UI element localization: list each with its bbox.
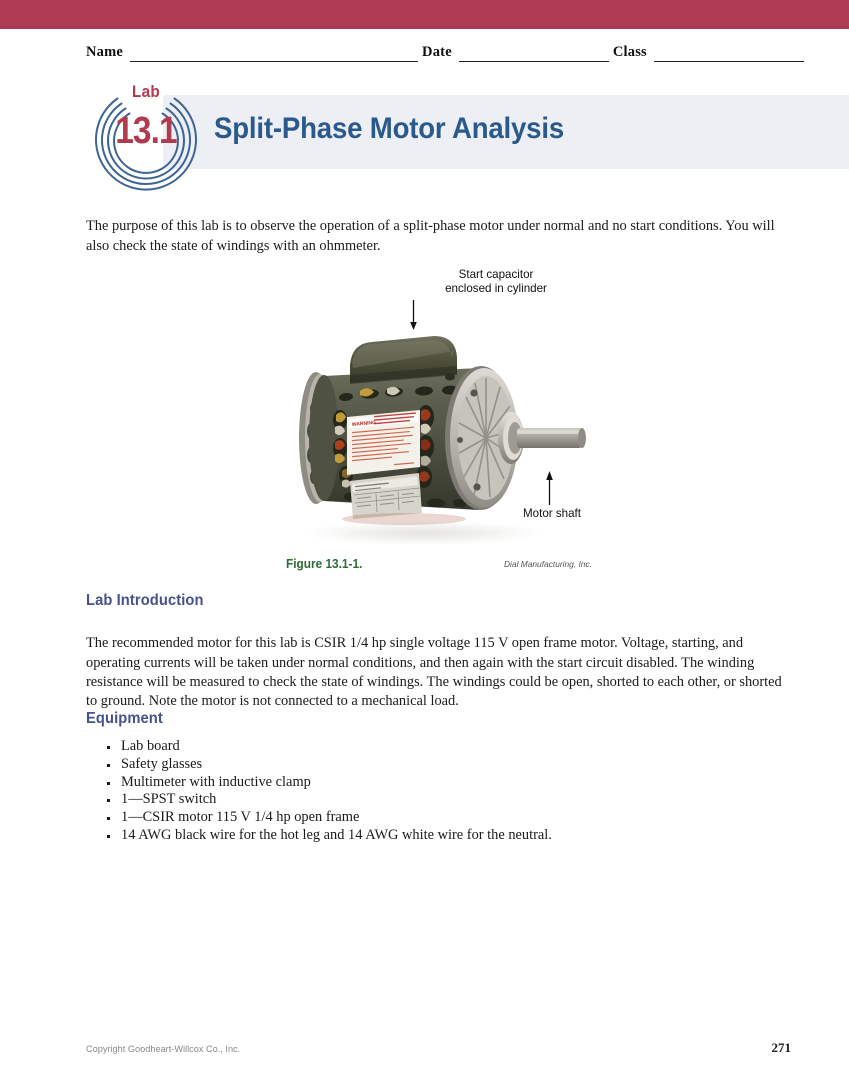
name-label: Name xyxy=(86,44,123,62)
date-write-in-line[interactable] xyxy=(459,47,609,62)
top-decorative-bar xyxy=(0,0,849,29)
list-item: Multimeter with inductive clamp xyxy=(100,774,700,792)
motor-shaft xyxy=(517,428,586,448)
motor-shaft-callout: Motor shaft xyxy=(523,507,581,520)
equipment-list: Lab board Safety glasses Multimeter with… xyxy=(100,738,700,845)
start-capacitor-callout-line1: Start capacitor xyxy=(360,268,632,282)
lab-introduction-heading: Lab Introduction xyxy=(86,592,204,610)
badge-lab-number: 13.1 xyxy=(98,110,193,153)
list-item: 1—CSIR motor 115 V 1/4 hp open frame xyxy=(100,809,700,827)
badge-lab-word: Lab xyxy=(97,82,194,102)
figure-credit: Dial Manufacturing, Inc. xyxy=(504,559,592,569)
warning-label: WARNING xyxy=(347,410,420,475)
class-label: Class xyxy=(613,44,647,62)
purpose-paragraph: The purpose of this lab is to observe th… xyxy=(86,217,792,255)
page-number: 271 xyxy=(772,1040,792,1056)
lab-number-badge: Lab 13.1 xyxy=(92,84,200,192)
name-date-class-row: Name Date Class xyxy=(86,40,791,62)
lab-introduction-paragraph: The recommended motor for this lab is CS… xyxy=(86,634,792,711)
copyright-notice: Copyright Goodheart-Willcox Co., Inc. xyxy=(86,1044,240,1054)
name-write-in-line[interactable] xyxy=(130,47,418,62)
equipment-heading: Equipment xyxy=(86,710,163,728)
start-capacitor-callout-line2: enclosed in cylinder xyxy=(360,282,632,296)
up-arrow-icon xyxy=(545,471,554,505)
class-write-in-line[interactable] xyxy=(654,47,804,62)
list-item: Safety glasses xyxy=(100,756,700,774)
figure-caption: Figure 13.1-1. xyxy=(286,557,362,571)
page-title: Split-Phase Motor Analysis xyxy=(214,112,564,146)
list-item: 14 AWG black wire for the hot leg and 14… xyxy=(100,827,700,845)
start-capacitor-callout: Start capacitor enclosed in cylinder xyxy=(360,268,632,297)
list-item: 1—SPST switch xyxy=(100,791,700,809)
motor-nameplate xyxy=(350,473,422,519)
list-item: Lab board xyxy=(100,738,700,756)
date-label: Date xyxy=(422,44,452,62)
